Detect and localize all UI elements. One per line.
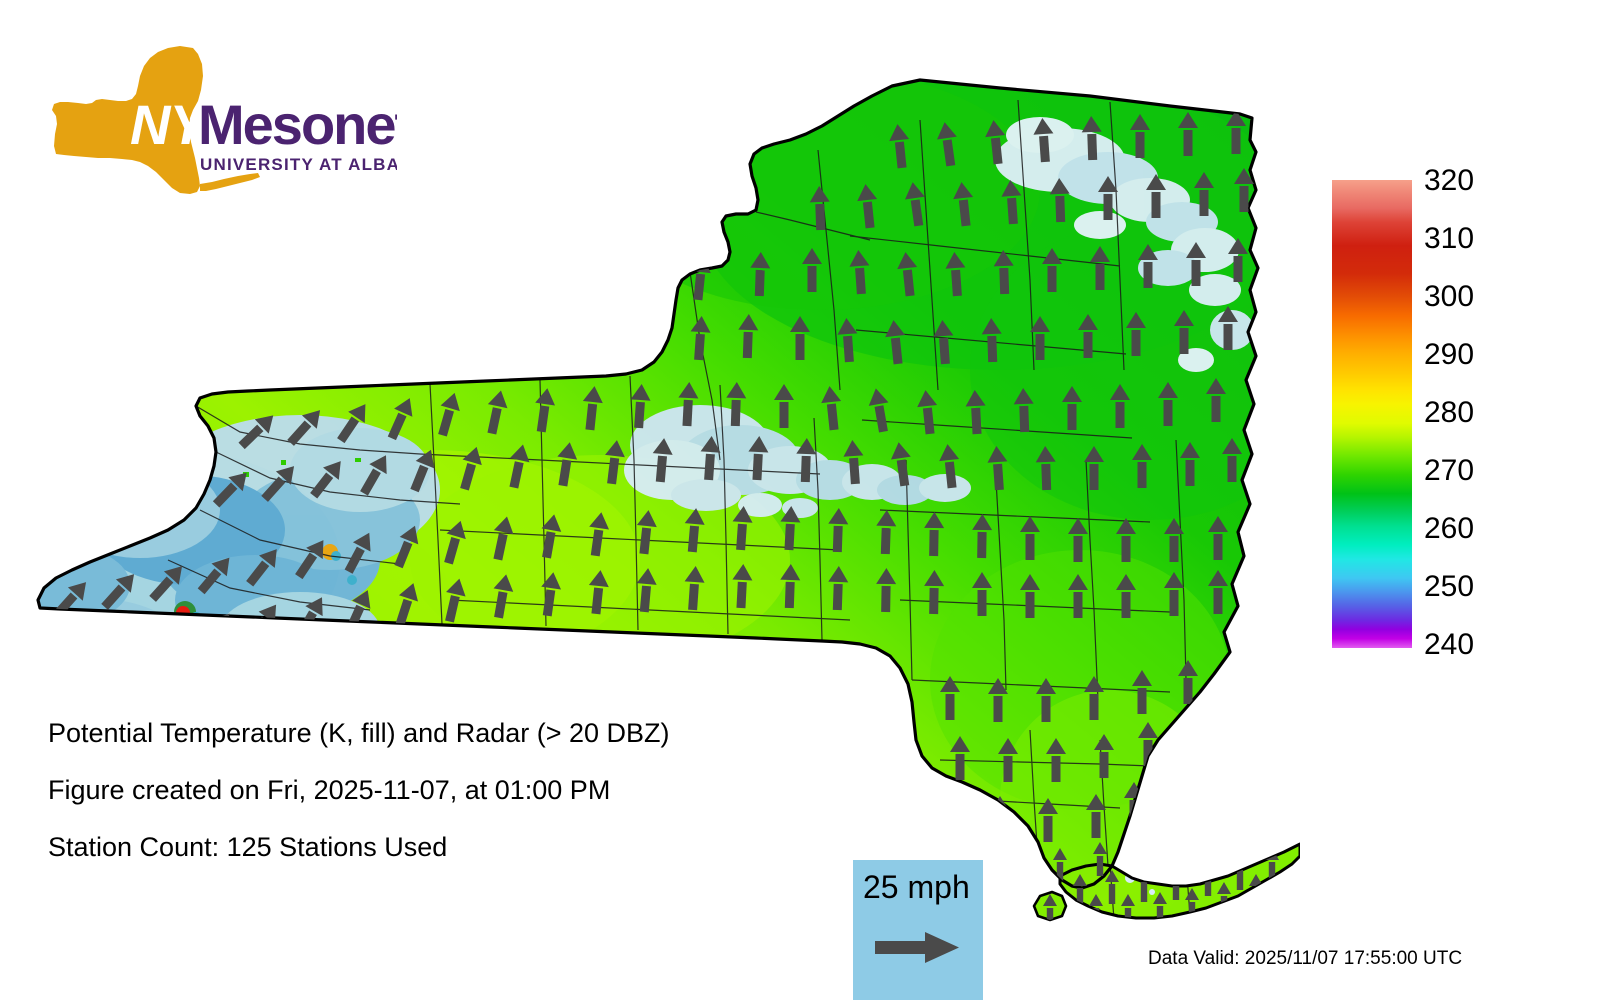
colorbar-gradient [1332,180,1412,648]
colorbar-tick-0: 320 [1424,166,1474,196]
colorbar-tick-3: 290 [1424,340,1474,370]
colorbar-tick-6: 260 [1424,514,1474,544]
colorbar-tick-2: 300 [1424,282,1474,312]
colorbar-tick-7: 250 [1424,572,1474,602]
wind-key-arrow-icon [875,928,965,973]
colorbar-legend: 320 310 300 290 280 270 260 250 240 [1332,180,1582,660]
wind-reference-vector-key: 25 mph [853,860,983,1000]
wind-key-label: 25 mph [863,870,970,904]
figure-caption-block: Potential Temperature (K, fill) and Rada… [48,718,868,889]
colorbar-tick-4: 280 [1424,398,1474,428]
caption-title: Potential Temperature (K, fill) and Rada… [48,718,868,749]
caption-created: Figure created on Fri, 2025-11-07, at 01… [48,775,868,806]
colorbar-tick-8: 240 [1424,630,1474,660]
colorbar-tick-5: 270 [1424,456,1474,486]
colorbar-tick-1: 310 [1424,224,1474,254]
data-valid-timestamp: Data Valid: 2025/11/07 17:55:00 UTC [1148,948,1462,970]
caption-station-count: Station Count: 125 Stations Used [48,832,868,863]
